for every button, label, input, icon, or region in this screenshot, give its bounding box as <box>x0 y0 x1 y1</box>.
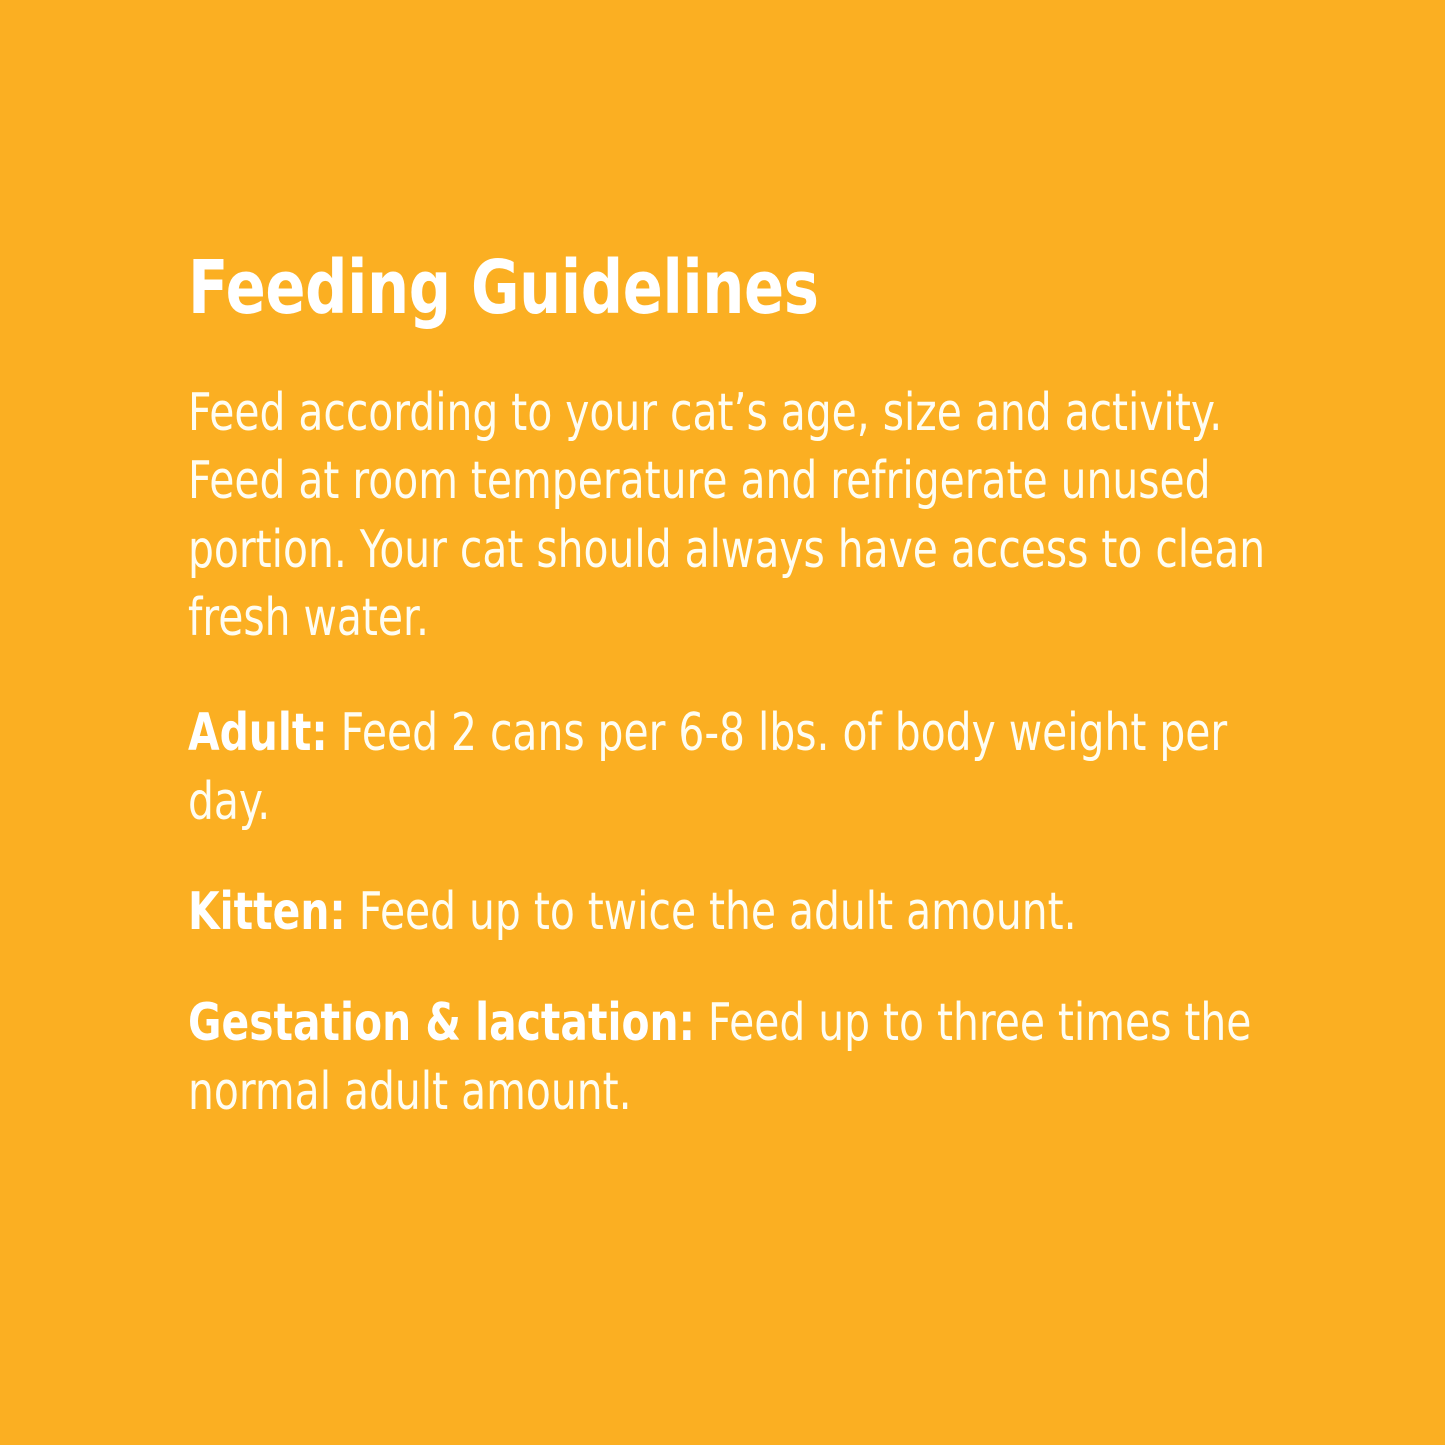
guideline-kitten-label: Kitten: <box>188 882 346 942</box>
guideline-adult-label: Adult: <box>188 703 328 763</box>
page-title: Feeding Guidelines <box>188 252 1056 325</box>
guideline-kitten-text: Feed up to twice the adult amount. <box>346 882 1077 942</box>
feeding-intro-text: Feed according to your cat’s age, size a… <box>188 379 1273 654</box>
guideline-adult: Adult: Feed 2 cans per 6-8 lbs. of body … <box>188 699 1273 836</box>
guideline-gestation-lactation: Gestation & lactation: Feed up to three … <box>188 989 1273 1126</box>
guideline-adult-text: Feed 2 cans per 6-8 lbs. of body weight … <box>188 703 1227 832</box>
panel-content: Feeding Guidelines Feed according to you… <box>188 252 1273 1126</box>
guideline-gestation-lactation-label: Gestation & lactation: <box>188 993 695 1053</box>
feeding-guidelines-panel: Feeding Guidelines Feed according to you… <box>0 0 1445 1445</box>
guideline-kitten: Kitten: Feed up to twice the adult amoun… <box>188 878 1273 947</box>
